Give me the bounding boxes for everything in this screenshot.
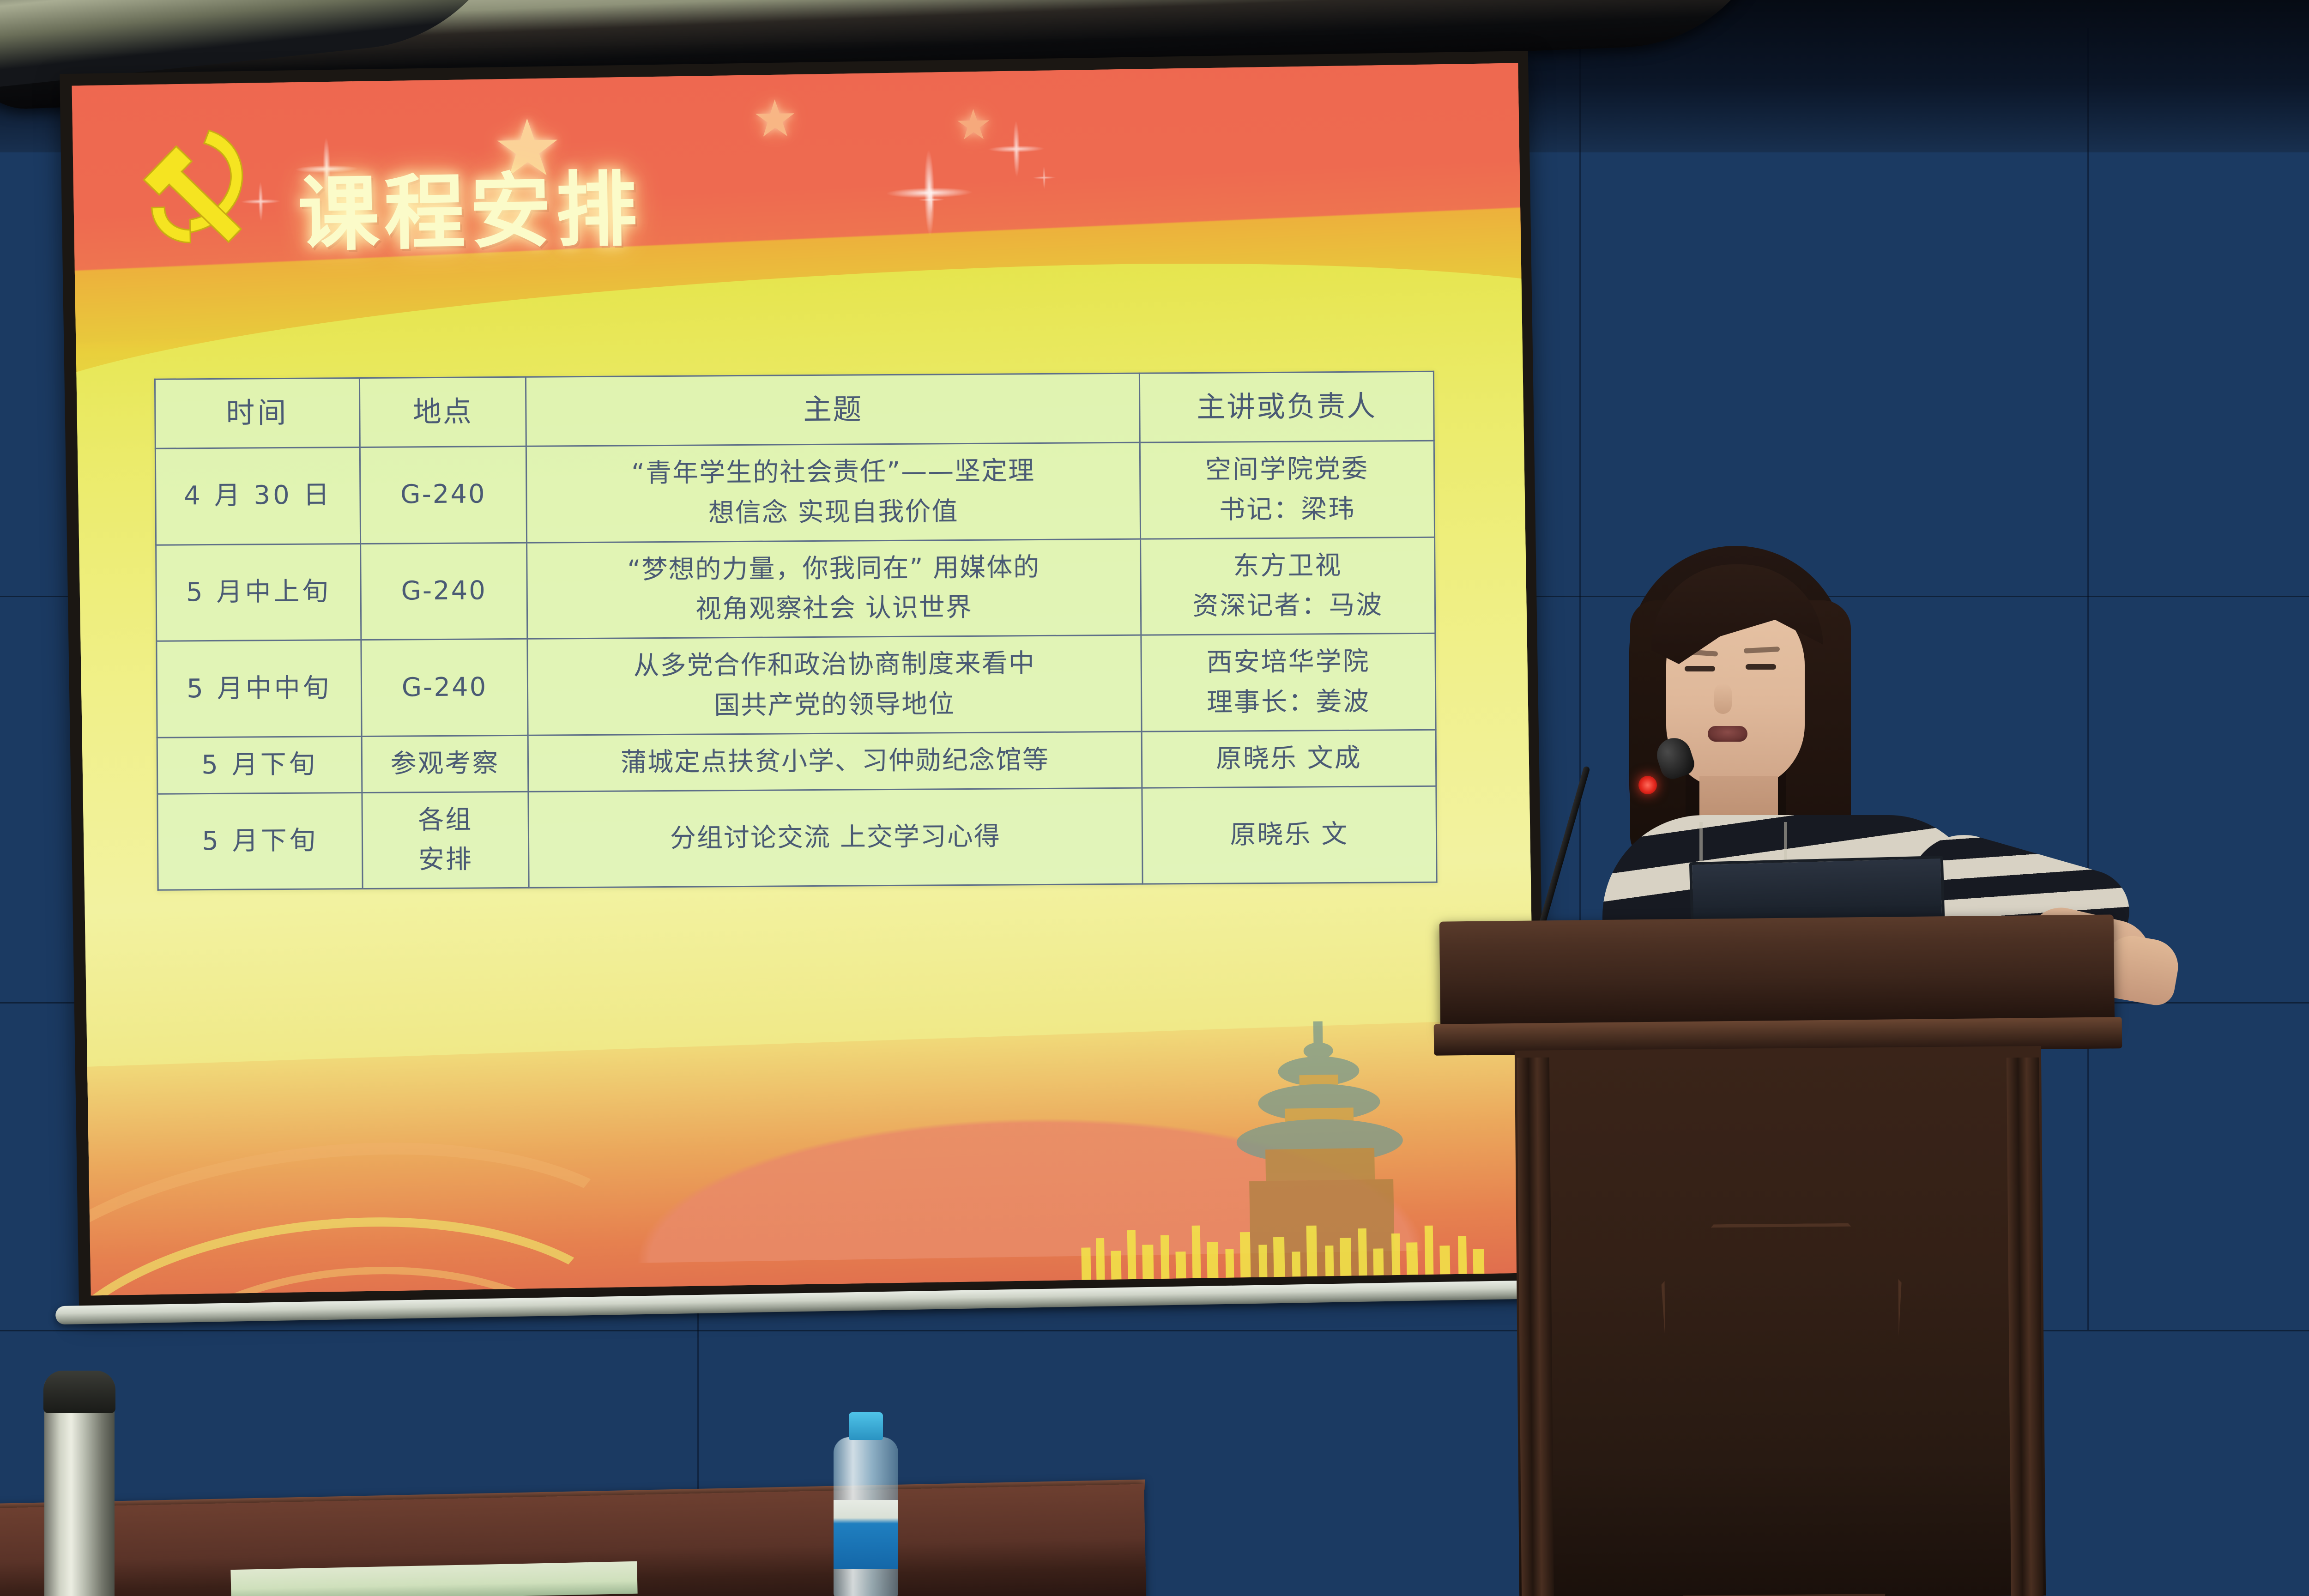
cell-place-line1: 各组 bbox=[367, 799, 523, 840]
cell-place: 参观考察 bbox=[362, 735, 528, 792]
cell-topic-line1: 从多党合作和政治协商制度来看中 bbox=[532, 643, 1136, 687]
presenter-nose bbox=[1714, 683, 1732, 714]
cell-topic: 蒲城定点扶贫小学、习仲勋纪念馆等 bbox=[528, 731, 1142, 792]
cell-time: 5 月下旬 bbox=[157, 792, 363, 890]
podium-right-column bbox=[2007, 1058, 2043, 1596]
cell-owner-line2: 理事长：姜波 bbox=[1147, 682, 1430, 724]
cell-owner-line1: 西安培华学院 bbox=[1146, 641, 1430, 683]
water-bottle-cap[interactable] bbox=[849, 1412, 883, 1440]
podium-hexagon-panel bbox=[1661, 1223, 1904, 1596]
table-header-row: 时间 地点 主题 主讲或负责人 bbox=[155, 371, 1434, 448]
presentation-slide: ★ ★ ★ bbox=[72, 63, 1537, 1296]
podium-top-surface bbox=[1439, 914, 2115, 1032]
presenter-mouth bbox=[1708, 726, 1747, 742]
cell-owner: 西安培华学院 理事长：姜波 bbox=[1141, 633, 1436, 731]
cell-owner: 空间学院党委 书记：梁玮 bbox=[1140, 441, 1434, 538]
cell-owner-line2: 书记：梁玮 bbox=[1145, 489, 1429, 531]
cell-topic-line2: 国共产党的领导地位 bbox=[533, 683, 1136, 727]
cell-place: G-240 bbox=[360, 543, 527, 640]
cell-topic: “梦想的力量，你我同在” 用媒体的 视角观察社会 认识世界 bbox=[526, 539, 1141, 639]
column-header-place: 地点 bbox=[359, 377, 526, 447]
cell-topic: 分组讨论交流 上交学习心得 bbox=[528, 788, 1142, 888]
thermos-cap[interactable] bbox=[43, 1371, 115, 1413]
projection-screen-frame: ★ ★ ★ bbox=[60, 51, 1547, 1312]
cell-topic: 从多党合作和政治协商制度来看中 国共产党的领导地位 bbox=[527, 635, 1142, 735]
cell-time: 5 月下旬 bbox=[157, 736, 362, 794]
water-bottle-label bbox=[834, 1500, 898, 1569]
cpc-hammer-sickle-emblem bbox=[120, 112, 275, 266]
cell-owner-line1: 东方卫视 bbox=[1146, 545, 1429, 587]
cell-topic-line1: “梦想的力量，你我同在” 用媒体的 bbox=[532, 547, 1136, 591]
cell-topic: “青年学生的社会责任”——坚定理 想信念 实现自我价值 bbox=[526, 442, 1140, 543]
table-row: 5 月中中旬 G-240 从多党合作和政治协商制度来看中 国共产党的领导地位 西… bbox=[157, 633, 1436, 738]
table-row: 5 月中上旬 G-240 “梦想的力量，你我同在” 用媒体的 视角观察社会 认识… bbox=[156, 537, 1435, 641]
cell-topic-line2: 想信念 实现自我价值 bbox=[532, 490, 1135, 534]
cell-owner: 东方卫视 资深记者：马波 bbox=[1140, 537, 1435, 635]
city-skyline-silhouette bbox=[1077, 1204, 1493, 1280]
sparkle-icon bbox=[1028, 161, 1060, 194]
schedule-table: 时间 地点 主题 主讲或负责人 4 月 30 日 G-240 “青年学生的社会责… bbox=[154, 371, 1438, 891]
cell-place: G-240 bbox=[360, 446, 526, 544]
projection-screen: ★ ★ ★ bbox=[60, 51, 1547, 1312]
lecture-hall-scene: ★ ★ ★ bbox=[0, 0, 2309, 1596]
microphone-led-indicator[interactable] bbox=[1638, 776, 1657, 794]
decor-star-icon: ★ bbox=[752, 89, 798, 149]
presenter-eye-right bbox=[1746, 664, 1776, 670]
cell-place: 各组 安排 bbox=[362, 792, 529, 889]
podium-left-column bbox=[1517, 1058, 1554, 1596]
cell-topic-line2: 视角观察社会 认识世界 bbox=[532, 587, 1136, 631]
cell-owner: 原晓乐 文成 bbox=[1142, 730, 1436, 788]
presenter-eye-left bbox=[1685, 666, 1715, 671]
slide-title: 课程安排 bbox=[297, 143, 642, 266]
cell-owner-line2: 资深记者：马波 bbox=[1146, 585, 1430, 627]
cell-place-line2: 安排 bbox=[368, 840, 523, 881]
table-row: 5 月下旬 参观考察 蒲城定点扶贫小学、习仲勋纪念馆等 原晓乐 文成 bbox=[157, 730, 1436, 794]
cell-time: 5 月中上旬 bbox=[156, 544, 361, 641]
cell-owner-line1: 空间学院党委 bbox=[1145, 449, 1429, 491]
cell-time: 4 月 30 日 bbox=[155, 447, 360, 544]
table-row: 5 月下旬 各组 安排 分组讨论交流 上交学习心得 原晓乐 文 bbox=[157, 786, 1437, 890]
sparkle-icon bbox=[913, 181, 950, 218]
cell-place: G-240 bbox=[361, 639, 528, 736]
column-header-topic: 主题 bbox=[526, 373, 1140, 446]
cell-topic-line1: “青年学生的社会责任”——坚定理 bbox=[532, 451, 1135, 495]
column-header-time: 时间 bbox=[155, 378, 360, 448]
cell-owner: 原晓乐 文 bbox=[1142, 786, 1437, 884]
column-header-owner: 主讲或负责人 bbox=[1139, 371, 1434, 442]
table-row: 4 月 30 日 G-240 “青年学生的社会责任”——坚定理 想信念 实现自我… bbox=[155, 441, 1434, 545]
cell-time: 5 月中中旬 bbox=[157, 640, 362, 737]
